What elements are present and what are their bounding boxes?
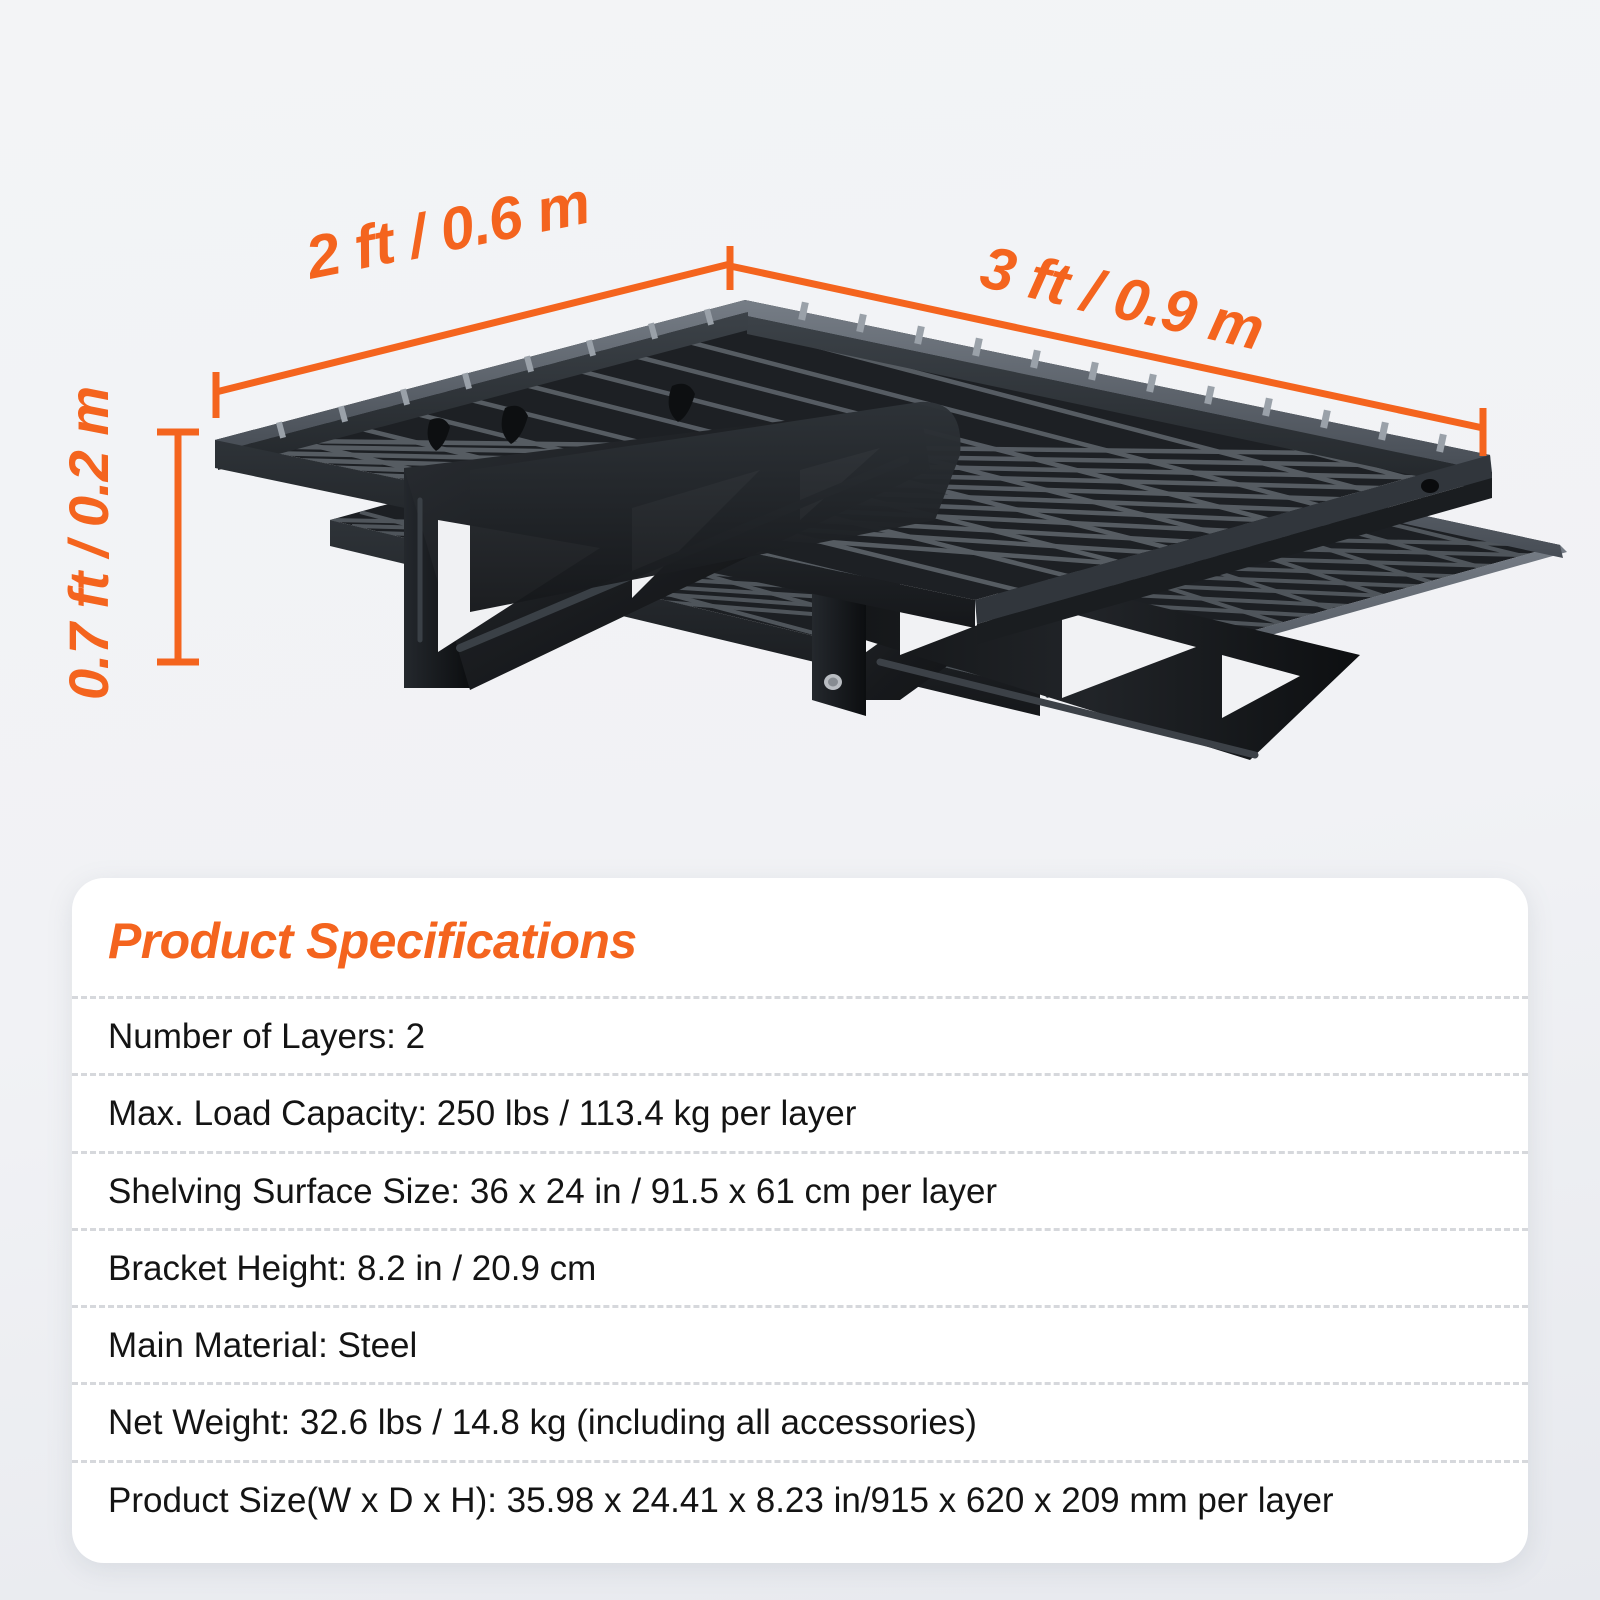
- product-hero-image: 2 ft / 0.6 m 3 ft / 0.9 m 0.7 ft / 0.2 m: [0, 0, 1600, 880]
- spec-row: Net Weight: 32.6 lbs / 14.8 kg (includin…: [72, 1382, 1528, 1459]
- spec-row: Shelving Surface Size: 36 x 24 in / 91.5…: [72, 1151, 1528, 1228]
- product-specifications-card: Product Specifications Number of Layers:…: [72, 878, 1528, 1563]
- spec-row: Main Material: Steel: [72, 1305, 1528, 1382]
- height-dimension-label: 0.7 ft / 0.2 m: [56, 386, 121, 700]
- spec-row: Number of Layers: 2: [72, 996, 1528, 1073]
- spec-row: Max. Load Capacity: 250 lbs / 113.4 kg p…: [72, 1073, 1528, 1150]
- product-illustration: [0, 0, 1600, 880]
- mounting-bolt-icon: [824, 674, 842, 690]
- spec-row: Product Size(W x D x H): 35.98 x 24.41 x…: [72, 1460, 1528, 1537]
- page-title: Product Specifications: [72, 912, 1528, 996]
- spec-row: Bracket Height: 8.2 in / 20.9 cm: [72, 1228, 1528, 1305]
